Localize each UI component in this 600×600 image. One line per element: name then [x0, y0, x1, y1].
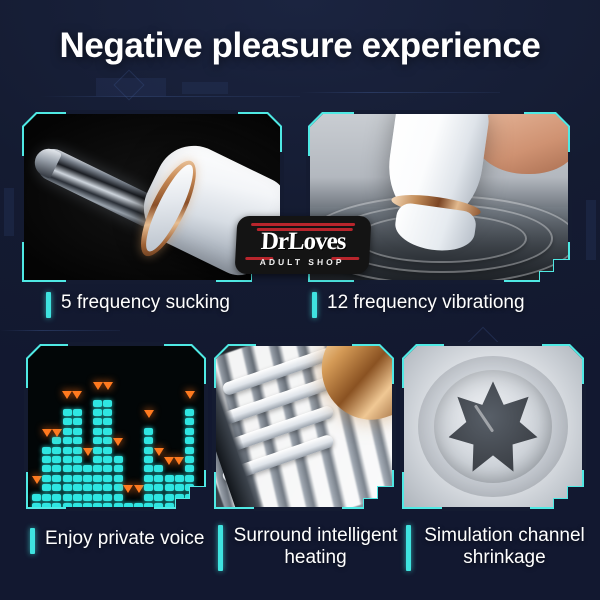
bg-decor-block	[96, 78, 166, 96]
equalizer-peak-marker	[134, 485, 144, 493]
equalizer-block	[103, 428, 112, 435]
equalizer-block	[83, 465, 92, 472]
equalizer-block	[63, 428, 72, 435]
equalizer-block	[73, 494, 82, 501]
equalizer-block	[73, 418, 82, 425]
equalizer-peak-marker	[154, 448, 164, 456]
equalizer-block	[93, 447, 102, 454]
equalizer-block	[144, 437, 153, 444]
equalizer-block	[165, 494, 174, 501]
equalizer-peak-marker	[72, 391, 82, 399]
equalizer-block	[52, 475, 61, 482]
equalizer-block	[185, 494, 194, 501]
equalizer-block	[185, 418, 194, 425]
equalizer-peak-marker	[62, 391, 72, 399]
equalizer-block	[73, 409, 82, 416]
equalizer-block	[73, 484, 82, 491]
equalizer-block	[42, 503, 51, 507]
bg-decor-line	[0, 330, 120, 331]
equalizer-block	[144, 475, 153, 482]
equalizer-block	[93, 400, 102, 407]
equalizer-block	[144, 447, 153, 454]
equalizer-block	[114, 456, 123, 463]
equalizer-block	[93, 418, 102, 425]
equalizer-block	[185, 456, 194, 463]
equalizer-block	[134, 503, 143, 507]
equalizer-block	[63, 409, 72, 416]
equalizer-block	[73, 465, 82, 472]
bg-decor-line	[300, 92, 500, 93]
equalizer-block	[114, 465, 123, 472]
feature-card-shrinkage[interactable]	[402, 344, 584, 509]
equalizer-block	[144, 503, 153, 507]
equalizer-block	[103, 484, 112, 491]
equalizer-block	[185, 503, 194, 507]
equalizer-block	[42, 484, 51, 491]
equalizer-block	[73, 437, 82, 444]
equalizer-block	[165, 475, 174, 482]
equalizer-block	[165, 503, 174, 507]
equalizer-block	[114, 494, 123, 501]
equalizer-block	[42, 465, 51, 472]
equalizer-block	[185, 409, 194, 416]
equalizer-block	[165, 484, 174, 491]
equalizer-peak-marker	[83, 448, 93, 456]
equalizer-block	[73, 503, 82, 507]
equalizer-block	[175, 503, 184, 507]
equalizer-block	[63, 484, 72, 491]
caption-text: 12 frequency vibrationg	[327, 292, 525, 314]
equalizer-block	[93, 475, 102, 482]
equalizer-block	[114, 503, 123, 507]
equalizer-block	[63, 475, 72, 482]
equalizer-block	[175, 484, 184, 491]
equalizer-block	[63, 437, 72, 444]
equalizer-block	[93, 409, 102, 416]
equalizer-peak-marker	[185, 391, 195, 399]
equalizer-block	[63, 503, 72, 507]
equalizer-block	[144, 456, 153, 463]
equalizer-block	[114, 484, 123, 491]
equalizer-peak-marker	[103, 382, 113, 390]
equalizer-block	[185, 465, 194, 472]
equalizer-block	[93, 465, 102, 472]
equalizer-block	[73, 475, 82, 482]
bg-decor-line	[40, 96, 300, 97]
panel-frame	[214, 344, 394, 509]
panel-inner	[28, 346, 204, 507]
equalizer-block	[154, 494, 163, 501]
equalizer-block	[52, 503, 61, 507]
watermark-tagline: ADULT SHOP	[235, 257, 370, 267]
caption-voice: Enjoy private voice	[30, 528, 205, 554]
equalizer-block	[103, 456, 112, 463]
equalizer-peak-marker	[32, 476, 42, 484]
equalizer-block	[103, 400, 112, 407]
equalizer-block	[103, 475, 112, 482]
equalizer-block	[93, 484, 102, 491]
equalizer-block	[93, 503, 102, 507]
equalizer-block	[73, 456, 82, 463]
equalizer-block	[52, 437, 61, 444]
equalizer-block	[63, 456, 72, 463]
equalizer-block	[154, 475, 163, 482]
bg-decor-block	[182, 82, 228, 94]
equalizer-block	[83, 475, 92, 482]
audio-equalizer-graphic	[28, 346, 204, 507]
equalizer-peak-marker	[42, 429, 52, 437]
equalizer-block	[144, 465, 153, 472]
equalizer-block	[93, 428, 102, 435]
caption-text: Enjoy private voice	[45, 528, 204, 550]
watermark-stripe	[251, 223, 355, 226]
equalizer-block	[63, 494, 72, 501]
equalizer-block	[42, 475, 51, 482]
equalizer-block	[42, 447, 51, 454]
inner-sleeve-texture-photo	[216, 346, 392, 507]
equalizer-block	[52, 456, 61, 463]
bg-decor-block	[586, 200, 596, 260]
equalizer-block	[83, 494, 92, 501]
equalizer-block	[103, 494, 112, 501]
watermark-logo: DrLoves ADULT SHOP	[234, 216, 371, 274]
equalizer-block	[144, 484, 153, 491]
equalizer-block	[144, 494, 153, 501]
equalizer-peak-marker	[52, 429, 62, 437]
equalizer-block	[103, 503, 112, 507]
equalizer-block	[32, 503, 41, 507]
caption-text: Simulation channel shrinkage	[421, 525, 588, 569]
equalizer-block	[52, 465, 61, 472]
caption-text: 5 frequency sucking	[61, 292, 230, 314]
feature-card-voice[interactable]	[26, 344, 206, 509]
equalizer-block	[103, 447, 112, 454]
equalizer-block	[185, 475, 194, 482]
equalizer-block	[52, 494, 61, 501]
caption-accent-bar	[312, 292, 317, 318]
caption-accent-bar	[46, 292, 51, 318]
equalizer-block	[63, 465, 72, 472]
equalizer-block	[63, 447, 72, 454]
hand-shape	[475, 114, 568, 174]
equalizer-block	[175, 475, 184, 482]
equalizer-block	[32, 494, 41, 501]
equalizer-block	[144, 428, 153, 435]
watermark-brand: DrLoves	[236, 229, 371, 254]
equalizer-block	[154, 465, 163, 472]
caption-accent-bar	[218, 525, 223, 571]
star-channel-opening-photo	[404, 346, 582, 507]
page-title: Negative pleasure experience	[0, 26, 600, 66]
panel-inner	[216, 346, 392, 507]
equalizer-block	[83, 484, 92, 491]
equalizer-block	[83, 503, 92, 507]
caption-vibration: 12 frequency vibrationg	[312, 292, 570, 318]
caption-text: Surround intelligent heating	[233, 525, 398, 569]
equalizer-block	[52, 447, 61, 454]
caption-shrinkage: Simulation channel shrinkage	[406, 525, 588, 571]
equalizer-block	[185, 484, 194, 491]
equalizer-block	[103, 418, 112, 425]
equalizer-block	[73, 428, 82, 435]
equalizer-block	[185, 428, 194, 435]
caption-accent-bar	[30, 528, 35, 554]
equalizer-block	[154, 484, 163, 491]
equalizer-block	[93, 437, 102, 444]
equalizer-block	[73, 447, 82, 454]
equalizer-peak-marker	[144, 410, 154, 418]
equalizer-block	[103, 465, 112, 472]
equalizer-block	[52, 484, 61, 491]
equalizer-block	[114, 475, 123, 482]
caption-accent-bar	[406, 525, 411, 571]
equalizer-peak-marker	[174, 457, 184, 465]
equalizer-peak-marker	[164, 457, 174, 465]
equalizer-block	[154, 503, 163, 507]
promo-page: Negative pleasure experience 5 frequency…	[0, 0, 600, 600]
equalizer-block	[103, 409, 112, 416]
equalizer-peak-marker	[123, 485, 133, 493]
panel-frame	[402, 344, 584, 509]
equalizer-peak-marker	[93, 382, 103, 390]
feature-card-heating[interactable]	[214, 344, 394, 509]
equalizer-block	[124, 503, 133, 507]
bg-decor-hex	[113, 69, 144, 100]
equalizer-block	[93, 456, 102, 463]
caption-suction: 5 frequency sucking	[46, 292, 286, 318]
equalizer-block	[42, 494, 51, 501]
panel-frame	[26, 344, 206, 509]
equalizer-block	[185, 447, 194, 454]
equalizer-bars	[28, 346, 204, 507]
bg-decor-block	[4, 188, 14, 236]
equalizer-block	[175, 494, 184, 501]
equalizer-block	[63, 418, 72, 425]
panel-inner	[404, 346, 582, 507]
equalizer-peak-marker	[113, 438, 123, 446]
equalizer-block	[185, 437, 194, 444]
equalizer-block	[103, 437, 112, 444]
equalizer-block	[42, 456, 51, 463]
equalizer-block	[93, 494, 102, 501]
caption-heating: Surround intelligent heating	[218, 525, 398, 571]
